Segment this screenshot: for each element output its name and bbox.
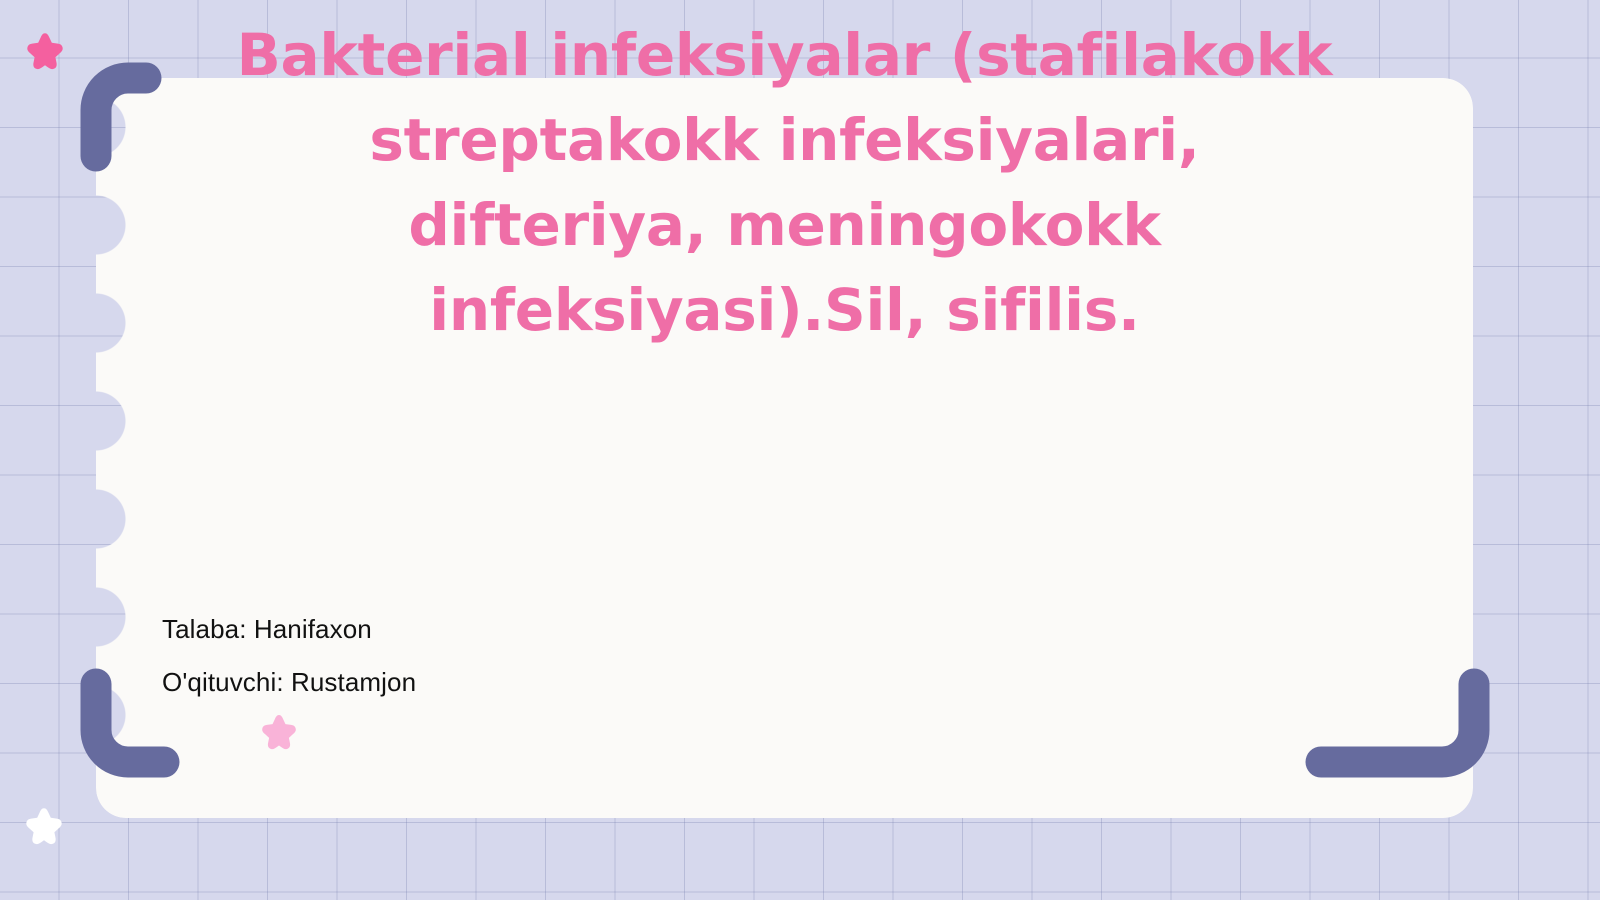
star-icon <box>24 805 64 845</box>
credit-student: Talaba: Hanifaxon <box>162 603 416 656</box>
card-content: Bakterial infeksiyalar (stafilakokk stre… <box>96 78 1473 818</box>
page-title: Bakterial infeksiyalar (stafilakokk stre… <box>215 13 1355 353</box>
star-icon <box>260 712 298 750</box>
star-icon <box>25 30 65 70</box>
credits-block: Talaba: Hanifaxon O'qituvchi: Rustamjon <box>162 603 416 709</box>
credit-teacher: O'qituvchi: Rustamjon <box>162 656 416 709</box>
presentation-slide: Bakterial infeksiyalar (stafilakokk stre… <box>0 0 1600 900</box>
